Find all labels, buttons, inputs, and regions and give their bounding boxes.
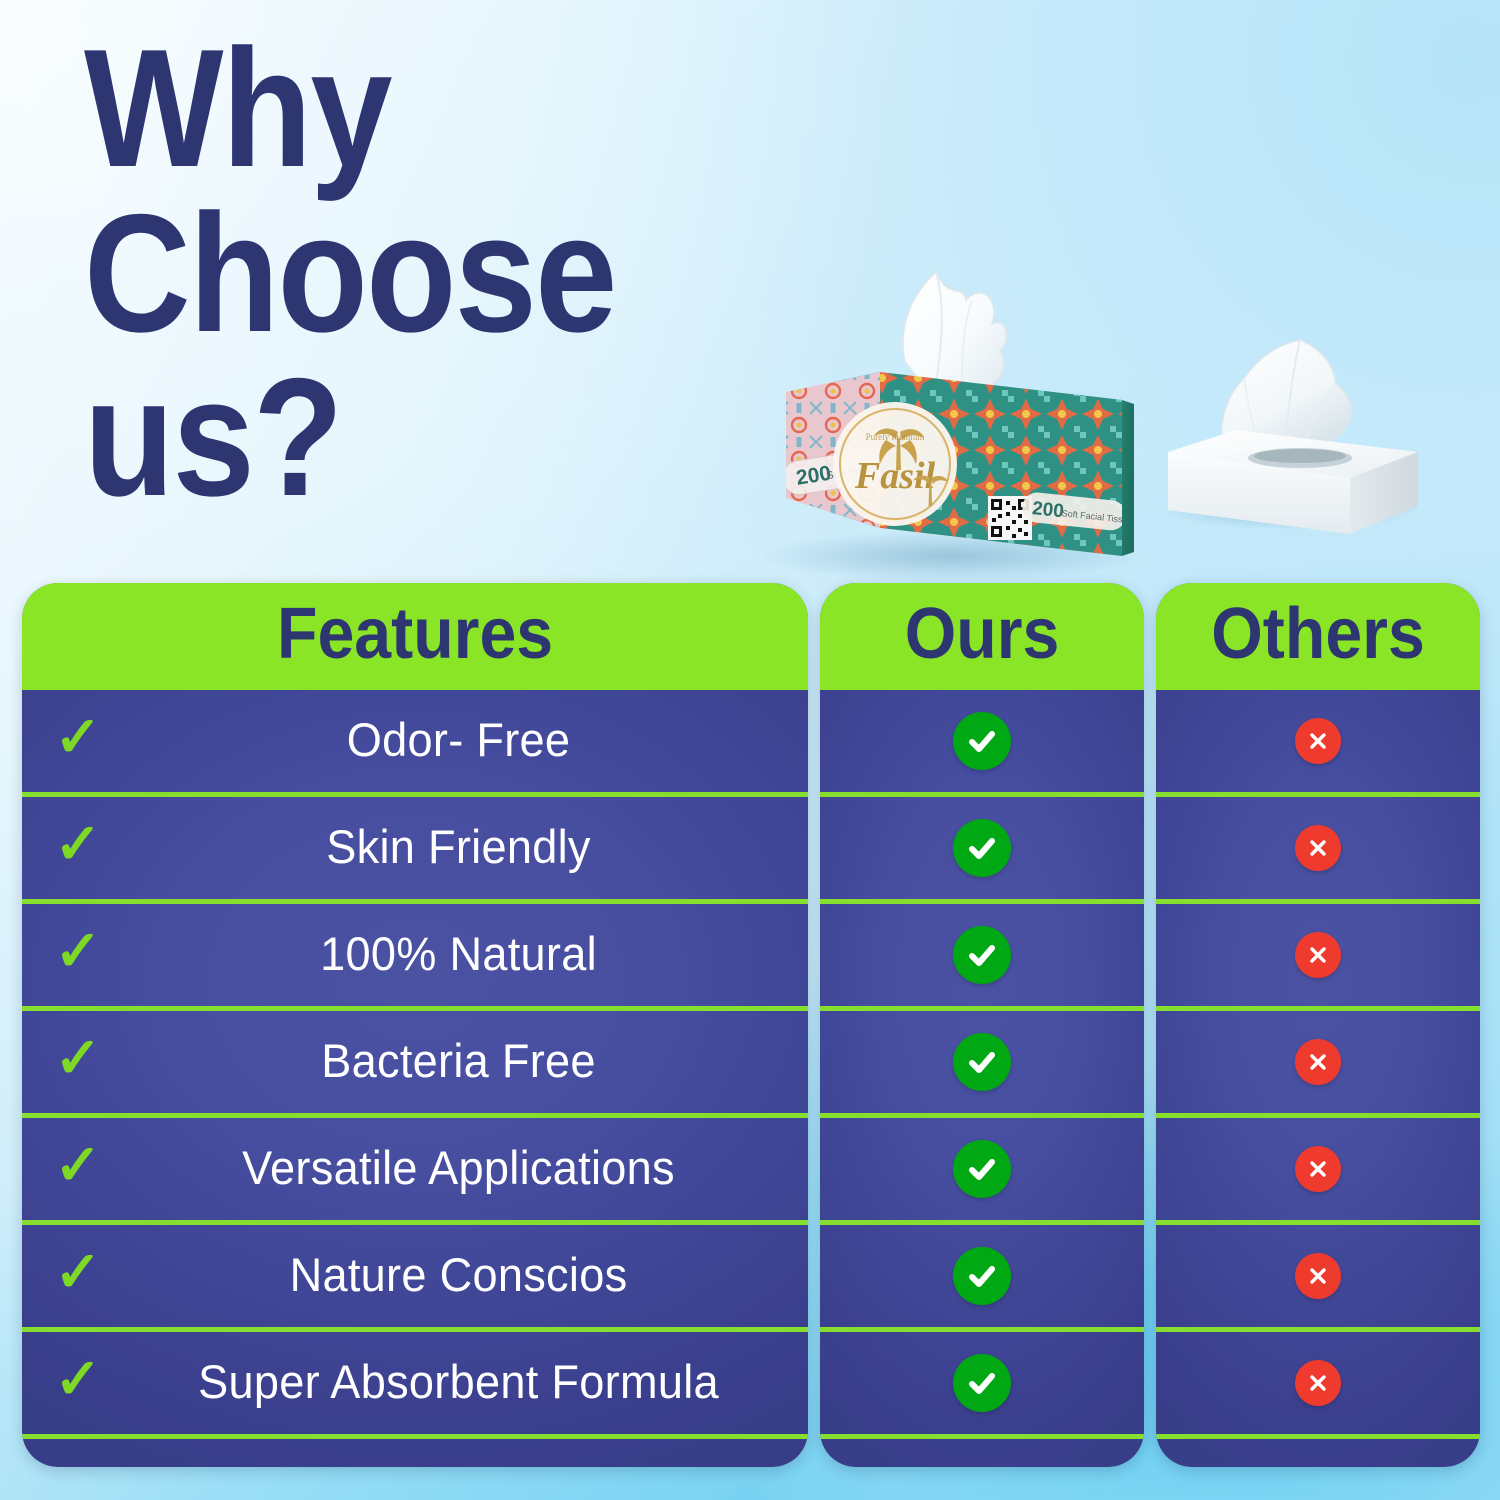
- table-row: [820, 1225, 1144, 1332]
- others-header-label: Others: [1211, 598, 1425, 676]
- check-icon: ✓: [22, 816, 134, 880]
- cross-circle-icon: [1295, 1146, 1341, 1192]
- table-row: [820, 690, 1144, 797]
- table-row: ✓ Skin Friendly: [22, 797, 808, 904]
- feature-label: Bacteria Free: [147, 1037, 794, 1087]
- table-row: ✓ Versatile Applications: [22, 1118, 808, 1225]
- check-circle-icon: [953, 926, 1011, 984]
- check-circle-icon: [953, 1247, 1011, 1305]
- check-circle-icon: [953, 1354, 1011, 1412]
- table-row: ✓ 100% Natural: [22, 904, 808, 1011]
- others-column-header: Others: [1156, 583, 1480, 690]
- table-footer-space: [1156, 1439, 1480, 1467]
- check-icon: ✓: [22, 1030, 134, 1094]
- others-column: Others: [1156, 583, 1480, 1467]
- feature-label: Versatile Applications: [147, 1144, 794, 1194]
- cross-circle-icon: [1295, 932, 1341, 978]
- check-icon: ✓: [22, 1137, 134, 1201]
- cross-circle-icon: [1295, 718, 1341, 764]
- table-row: [820, 1332, 1144, 1439]
- table-row: [1156, 1332, 1480, 1439]
- others-column-body: [1156, 690, 1480, 1467]
- features-header-label: Features: [277, 598, 553, 676]
- features-column-header: Features: [22, 583, 808, 690]
- cross-circle-icon: [1295, 1360, 1341, 1406]
- check-circle-icon: [953, 1140, 1011, 1198]
- table-row: ✓ Odor- Free: [22, 690, 808, 797]
- check-icon: ✓: [22, 709, 134, 773]
- cross-circle-icon: [1295, 1253, 1341, 1299]
- why-choose-us-infographic: Why Choose us?: [0, 0, 1500, 1500]
- table-row: ✓ Bacteria Free: [22, 1011, 808, 1118]
- table-row: [820, 1118, 1144, 1225]
- table-row: [1156, 1118, 1480, 1225]
- table-row: [820, 904, 1144, 1011]
- ours-column-body: [820, 690, 1144, 1467]
- feature-label: Odor- Free: [147, 716, 794, 766]
- table-row: [820, 1011, 1144, 1118]
- feature-label: Nature Conscios: [147, 1251, 794, 1301]
- table-row: [820, 797, 1144, 904]
- table-row: [1156, 690, 1480, 797]
- cross-circle-icon: [1295, 825, 1341, 871]
- features-column-body: ✓ Odor- Free ✓ Skin Friendly ✓ 100% Natu…: [22, 690, 808, 1467]
- table-footer-space: [22, 1439, 808, 1467]
- table-row: [1156, 797, 1480, 904]
- check-circle-icon: [953, 1033, 1011, 1091]
- check-icon: ✓: [22, 923, 134, 987]
- page-title: Why Choose us?: [84, 26, 647, 520]
- ours-header-label: Ours: [905, 598, 1060, 676]
- check-icon: ✓: [22, 1351, 134, 1415]
- feature-label: Super Absorbent Formula: [147, 1358, 794, 1408]
- table-footer-space: [820, 1439, 1144, 1467]
- check-circle-icon: [953, 819, 1011, 877]
- ours-column-header: Ours: [820, 583, 1144, 690]
- table-row: [1156, 904, 1480, 1011]
- table-row: ✓ Super Absorbent Formula: [22, 1332, 808, 1439]
- table-row: [1156, 1011, 1480, 1118]
- feature-label: Skin Friendly: [147, 823, 794, 873]
- ours-column: Ours: [820, 583, 1144, 1467]
- features-column: Features ✓ Odor- Free ✓ Skin Friendly ✓ …: [22, 583, 808, 1467]
- feature-label: 100% Natural: [147, 930, 794, 980]
- check-circle-icon: [953, 712, 1011, 770]
- table-row: ✓ Nature Conscios: [22, 1225, 808, 1332]
- table-row: [1156, 1225, 1480, 1332]
- cross-circle-icon: [1295, 1039, 1341, 1085]
- check-icon: ✓: [22, 1244, 134, 1308]
- comparison-table: Features ✓ Odor- Free ✓ Skin Friendly ✓ …: [22, 583, 1480, 1467]
